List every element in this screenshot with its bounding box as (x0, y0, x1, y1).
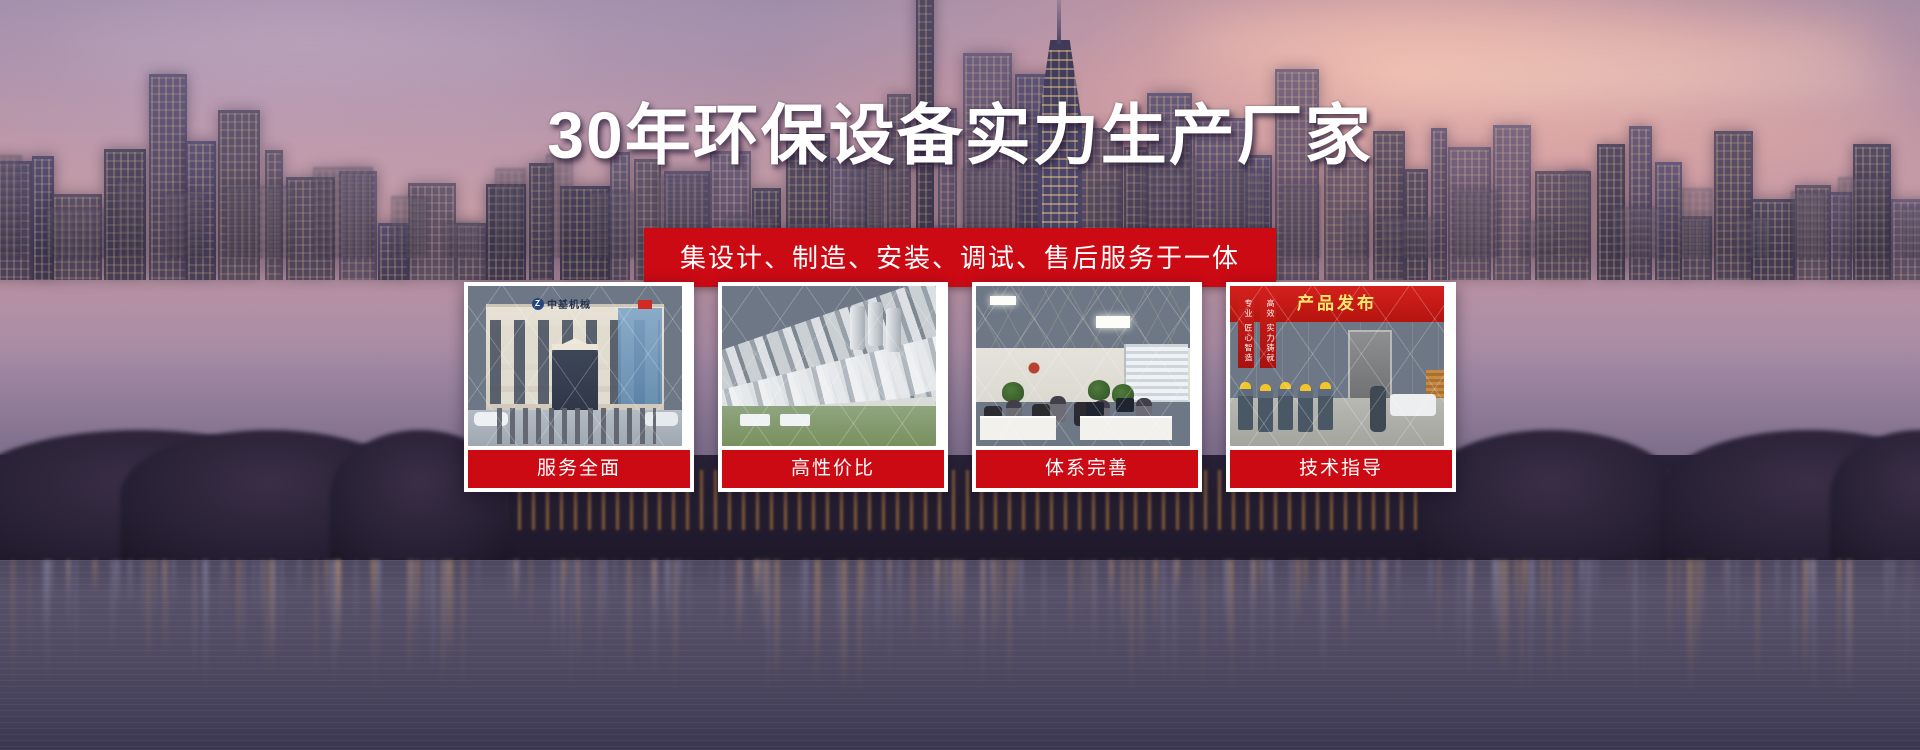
feature-card[interactable]: 体系完善 (972, 282, 1202, 492)
company-name-text: 中基机械 (547, 296, 591, 311)
subtitle-badge: 集设计、制造、安装、调试、售后服务于一体 (644, 228, 1276, 287)
card-caption: 高性价比 (722, 450, 944, 488)
card-caption: 技术指导 (1230, 450, 1452, 488)
card-photo-office-interior (976, 286, 1190, 446)
feature-card[interactable]: Z 中基机械 服务全面 (464, 282, 694, 492)
card-caption: 服务全面 (468, 450, 690, 488)
wall-logo (1020, 356, 1048, 376)
card-photo-factory-aerial (722, 286, 936, 446)
card-photo-workshop-training: 产品发布 专业 匠心智造 高效 实力铸就 (1230, 286, 1444, 446)
building-signage: Z 中基机械 (532, 296, 628, 311)
tower-spire (1057, 0, 1061, 44)
page-title: 30年环保设备实力生产厂家 (0, 98, 1920, 174)
card-caption: 体系完善 (976, 450, 1198, 488)
hero-banner: 30年环保设备实力生产厂家 集设计、制造、安装、调试、售后服务于一体 Z 中基机… (0, 0, 1920, 750)
company-logo-mark: Z (532, 298, 544, 310)
feature-card[interactable]: 产品发布 专业 匠心智造 高效 实力铸就 (1226, 282, 1456, 492)
feature-card[interactable]: 高性价比 (718, 282, 948, 492)
subtitle-container: 集设计、制造、安装、调试、售后服务于一体 (0, 228, 1920, 287)
feature-card-list: Z 中基机械 服务全面 (0, 282, 1920, 492)
card-photo-company-building: Z 中基机械 (468, 286, 682, 446)
